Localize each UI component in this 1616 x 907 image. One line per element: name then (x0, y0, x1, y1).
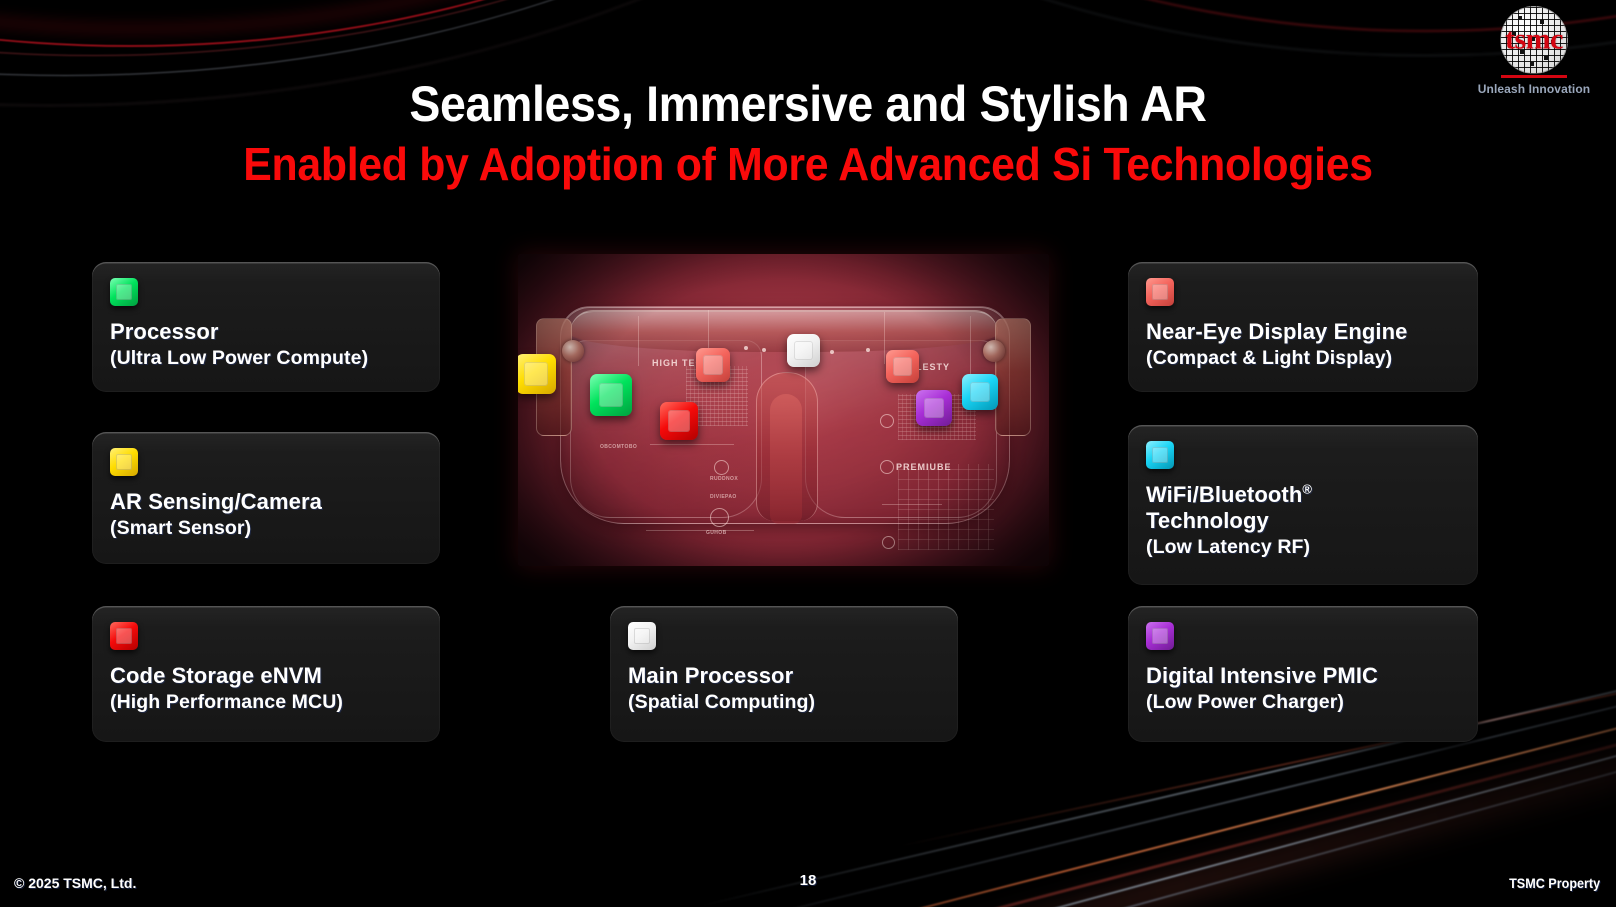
card-digital-pmic-subtitle: (Low Power Charger) (1146, 691, 1460, 714)
card-near-eye-display[interactable]: Near-Eye Display Engine (Compact & Light… (1128, 262, 1478, 392)
card-processor[interactable]: Processor (Ultra Low Power Compute) (92, 262, 440, 392)
card-wifi-bluetooth[interactable]: WiFi/Bluetooth® Technology (Low Latency … (1128, 425, 1478, 585)
card-wifi-bluetooth-title: WiFi/Bluetooth® (1146, 482, 1460, 508)
marker-code-storage (660, 402, 698, 440)
card-code-storage[interactable]: Code Storage eNVM (High Performance MCU) (92, 606, 440, 742)
card-ar-sensing[interactable]: AR Sensing/Camera (Smart Sensor) (92, 432, 440, 564)
card-main-processor-text: Main Processor (Spatial Computing) (628, 663, 940, 714)
card-code-storage-text: Code Storage eNVM (High Performance MCU) (110, 663, 422, 714)
wafer-icon: tsmc (1500, 6, 1568, 74)
card-wifi-bluetooth-title-main: WiFi/Bluetooth (1146, 482, 1302, 507)
slide-root: tsmc Unleash Innovation Seamless, Immers… (0, 0, 1616, 907)
chip-icon-processor (110, 278, 138, 306)
card-ar-sensing-subtitle: (Smart Sensor) (110, 517, 422, 540)
marker-pmic (916, 390, 952, 426)
chip-icon-digital-pmic (1146, 622, 1174, 650)
card-near-eye-display-subtitle: (Compact & Light Display) (1146, 347, 1460, 370)
card-code-storage-title: Code Storage eNVM (110, 663, 422, 689)
arc-topleft-2 (0, 0, 1120, 56)
property-note: TSMC Property (1509, 875, 1600, 891)
tsmc-tagline: Unleash Innovation (1474, 82, 1594, 96)
tsmc-logo: tsmc Unleash Innovation (1474, 6, 1594, 96)
card-main-processor[interactable]: Main Processor (Spatial Computing) (610, 606, 958, 742)
chip-icon-wifi-bluetooth (1146, 441, 1174, 469)
card-near-eye-display-text: Near-Eye Display Engine (Compact & Light… (1146, 319, 1460, 370)
page-title: Seamless, Immersive and Stylish AR (57, 78, 1560, 131)
marker-near-eye-right (886, 350, 919, 383)
card-main-processor-subtitle: (Spatial Computing) (628, 691, 940, 714)
card-digital-pmic[interactable]: Digital Intensive PMIC (Low Power Charge… (1128, 606, 1478, 742)
card-processor-subtitle: (Ultra Low Power Compute) (110, 347, 422, 370)
chip-icon-main-processor (628, 622, 656, 650)
card-main-processor-title: Main Processor (628, 663, 940, 689)
card-wifi-bluetooth-subtitle: (Low Latency RF) (1146, 536, 1460, 559)
arc-topleft-1 (0, 0, 1080, 47)
arc-topleft-3 (0, 0, 1140, 76)
marker-ar-sensing (518, 354, 556, 394)
card-processor-title: Processor (110, 319, 422, 345)
card-code-storage-subtitle: (High Performance MCU) (110, 691, 422, 714)
marker-near-eye-left (696, 348, 730, 382)
marker-processor (590, 374, 632, 416)
page-number: 18 (0, 872, 1616, 889)
card-digital-pmic-title: Digital Intensive PMIC (1146, 663, 1460, 689)
arc-topright-2 (616, 0, 1616, 56)
tsmc-underline (1501, 75, 1567, 78)
card-wifi-bluetooth-title-line2: Technology (1146, 508, 1460, 534)
ar-glasses-illustration: HIGH TECH LESTY PREMIUBE OBCOMTOBO RUDDN… (518, 254, 1049, 566)
card-ar-sensing-title: AR Sensing/Camera (110, 489, 422, 515)
tsmc-wordmark: tsmc (1500, 24, 1568, 54)
page-subtitle: Enabled by Adoption of More Advanced Si … (57, 139, 1560, 190)
marker-main-processor (787, 334, 820, 367)
card-wifi-bluetooth-text: WiFi/Bluetooth® Technology (Low Latency … (1146, 482, 1460, 559)
card-near-eye-display-title: Near-Eye Display Engine (1146, 319, 1460, 345)
card-digital-pmic-text: Digital Intensive PMIC (Low Power Charge… (1146, 663, 1460, 714)
card-processor-text: Processor (Ultra Low Power Compute) (110, 319, 422, 370)
marker-wifi (962, 374, 998, 410)
chip-icon-code-storage (110, 622, 138, 650)
title-block: Seamless, Immersive and Stylish AR Enabl… (0, 78, 1616, 190)
arc-glow-topleft (0, 0, 1060, 33)
card-ar-sensing-text: AR Sensing/Camera (Smart Sensor) (110, 489, 422, 540)
registered-trademark-icon: ® (1302, 482, 1312, 497)
chip-icon-near-eye-display (1146, 278, 1174, 306)
chip-icon-ar-sensing (110, 448, 138, 476)
